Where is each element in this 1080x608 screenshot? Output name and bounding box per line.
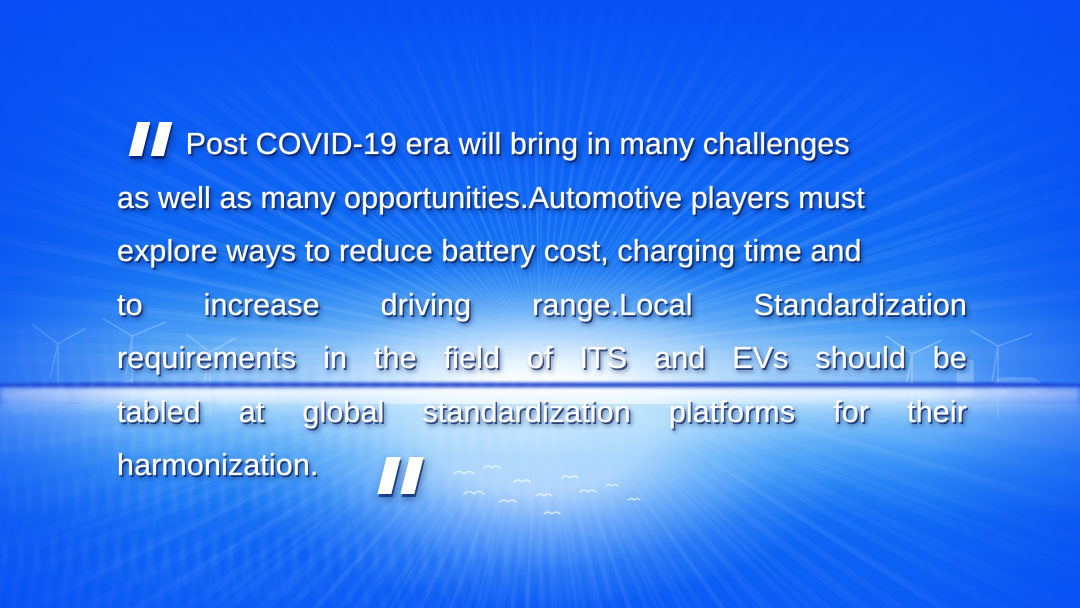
quote-line: tabledatglobalstandardizationplatformsfo…: [117, 386, 967, 440]
quote-word: their: [907, 386, 967, 440]
quote-word: in: [323, 332, 347, 386]
quote-word: platforms: [669, 386, 795, 440]
quote-word: to: [117, 279, 143, 333]
quote-word: tabled: [117, 386, 201, 440]
quote-word: requirements: [117, 332, 296, 386]
quote-word: range.Local: [532, 279, 693, 333]
quote-word: driving: [381, 279, 472, 333]
slide-canvas: 3: [0, 0, 1080, 608]
quote-word: Standardization: [754, 279, 967, 333]
quote-word: be: [933, 332, 967, 386]
quote-word: field: [444, 332, 500, 386]
quote-line: harmonization.: [117, 439, 967, 493]
quote-line: requirementsinthefieldofITSandEVsshouldb…: [117, 332, 967, 386]
quote-word: EVs: [732, 332, 788, 386]
quote-text-block: Post COVID-19 era will bring in many cha…: [117, 118, 967, 493]
quote-word: global: [302, 386, 384, 440]
quote-word: should: [815, 332, 905, 386]
quote-line: toincreasedrivingrange.LocalStandardizat…: [117, 279, 967, 333]
quote-line: as well as many opportunities.Automotive…: [117, 172, 967, 226]
quote-word: of: [527, 332, 553, 386]
quote-word: standardization: [422, 386, 630, 440]
quote-word: ITS: [579, 332, 627, 386]
quote-word: increase: [204, 279, 320, 333]
quote-word: for: [833, 386, 869, 440]
quote-word: at: [239, 386, 265, 440]
quote-line: explore ways to reduce battery cost, cha…: [117, 225, 967, 279]
quote-word: and: [654, 332, 705, 386]
quote-line: Post COVID-19 era will bring in many cha…: [117, 118, 967, 172]
electric-car-icon: [986, 372, 1050, 398]
quote-word: the: [374, 332, 417, 386]
